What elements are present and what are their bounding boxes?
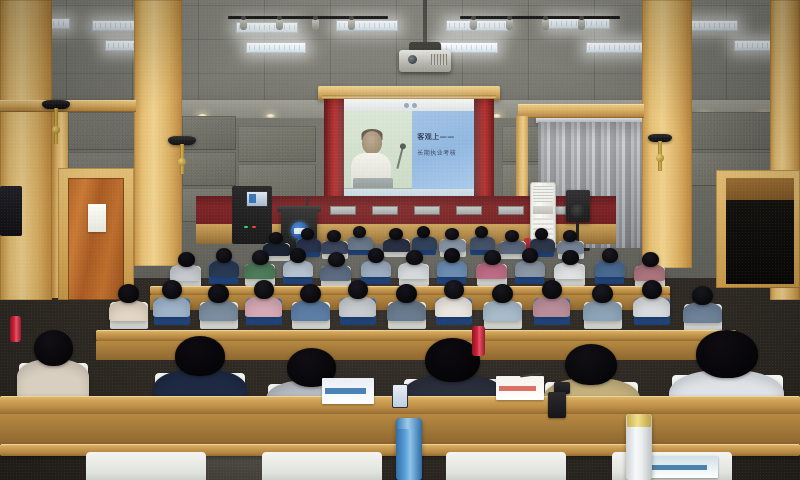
audience-member-head [301,228,314,240]
ceiling-panel-light [586,42,644,53]
booklet-blue [322,378,374,404]
thermos-cap [627,414,651,427]
audience-member-torso [339,296,376,317]
audience-member [326,252,346,279]
ceiling-projector-icon [399,50,451,72]
audience-member-torso [483,300,522,321]
thermos-cap [397,418,421,429]
projection-screen-assembly: 客观上—— 长期执业考核 [318,86,500,208]
audience-member-head [175,336,225,376]
sconce-knob [656,154,664,162]
lecture-hall-photo: 客观上—— 长期执业考核 [0,0,800,480]
audience-member [540,280,564,314]
microphone-icon [396,147,403,169]
stage-wall-plaque [498,206,524,215]
screen-valance-cornice [318,86,500,100]
audience-member-head [300,284,321,303]
audience-member [690,286,715,320]
audience-member [442,280,466,314]
audience-member-head [353,226,366,238]
smartphone-left[interactable] [392,384,408,408]
audience-member [352,226,368,248]
track-spotlight-icon [312,19,319,30]
audience-member-head [475,226,488,238]
audience-member [388,228,405,250]
audience-member [250,250,270,277]
audience-member-torso [683,302,722,323]
slide-text-pane: 客观上—— 长期执业考核 [412,111,474,200]
sconce-knob [178,158,186,166]
track-spotlight-icon [506,19,513,30]
light-track-rail [228,16,388,19]
audience-member [474,226,490,248]
audience-member [300,228,316,250]
audience-member-head [327,230,341,242]
av-monitor [246,191,268,207]
audience-member-torso [435,296,472,317]
audience-member-head [328,252,345,267]
audience-member-head [563,230,577,242]
audience-member-head [178,252,195,267]
audience-member-head [290,248,306,263]
pilaster-groove [146,16,170,260]
booklet-red [496,376,544,400]
slide-subtitle-text: 长期执业考核 [417,148,456,157]
audience-member [268,232,285,254]
stage-wall-plaque [372,206,398,215]
thermos-blue [396,418,422,480]
audience-member [600,248,619,275]
track-spotlight-icon [348,19,355,30]
calculator[interactable] [548,392,566,418]
sconce-knob [52,126,60,134]
ac-control-panel[interactable] [533,206,553,214]
pa-speaker [566,190,590,222]
track-spotlight-icon [240,19,247,30]
audience-member [160,280,184,314]
acoustic-panel [182,152,236,186]
status-led-red [252,226,256,228]
audience-member-head [269,232,283,244]
audience-member-torso [583,300,622,321]
projection-screen-surface: 客观上—— 长期执业考核 [344,99,474,200]
wood-cornice-right [518,104,644,118]
audience-member [562,230,579,252]
audience-member [520,248,539,275]
right-entrance-door[interactable] [726,200,794,284]
audience-member-head [565,344,617,385]
projector-vent [431,54,447,65]
track-spotlight-icon [276,19,283,30]
audience-member [206,284,231,318]
audience-member-head [484,250,501,265]
right-entrance-door-frame[interactable] [716,170,800,288]
audience-member [444,228,461,250]
stage-wall-plaque [456,206,482,215]
audience-member-head [254,280,274,299]
audience-member-torso [245,296,282,317]
audience-member-torso [387,300,426,321]
audience-member-head [162,280,182,299]
audience-member-head [444,248,460,263]
audience-member-head [696,330,758,378]
audience-member-head [368,248,384,263]
video-speaker-head [362,131,382,154]
thermos-red [472,326,485,356]
left-entrance-door-frame[interactable] [58,168,134,300]
audience-member-head [396,284,417,303]
audience-member-head [216,248,232,263]
audience-member [504,230,521,252]
ceiling-panel-light [246,42,306,53]
audience-member [490,284,515,318]
audience-member [346,280,370,314]
ceiling-panel-light [446,20,508,31]
audience-member [298,284,323,318]
slide-title-text: 客观上—— [417,132,455,142]
audience-member [640,252,660,279]
audience-member-head [602,248,618,263]
audience-member-torso [199,300,238,321]
projector-lens-icon [408,55,417,64]
audience-member [482,250,502,277]
booklet-teal [648,456,718,478]
audience-member [442,248,461,275]
audience-member-head [535,228,548,240]
audience-member [252,280,276,314]
audience-member [640,280,664,314]
audience-member-torso [412,236,437,250]
audience-member [534,228,550,250]
audience-member-torso [153,296,190,317]
booklet-cover-band [499,386,536,391]
audience-member-head [444,280,464,299]
stage-wall-plaque [330,206,356,215]
acoustic-panel [238,126,316,162]
audience-member [366,248,385,275]
booklet-cover-band [325,388,366,394]
seat-back[interactable] [262,452,382,480]
audience-member-head [692,286,713,305]
audience-member-head [562,250,579,265]
audience-member-head [208,284,229,303]
audience-member-head [417,226,430,238]
light-track-rail [460,16,620,19]
audience-member-head [118,284,139,303]
audience-member [326,230,343,252]
audience-member-head [406,250,423,265]
door-notice-paper [88,204,106,232]
audience-member-torso [470,236,495,250]
thermos-white [626,414,652,480]
track-spotlight-icon [578,19,585,30]
left-entrance-door[interactable] [68,178,124,300]
audience-member-head [642,252,659,267]
toolbar-dot-icon [404,103,409,108]
audience-member [404,250,424,277]
ceiling-panel-light [336,20,398,31]
audience-member-head [252,250,269,265]
audience-member-head [642,280,662,299]
audience-member-torso [291,300,330,321]
seat-back[interactable] [446,452,566,480]
audience-member-head [522,248,538,263]
wall-monitor [0,186,22,236]
booklet-cover-band [652,465,707,470]
audience-member-torso [533,296,570,317]
audience-member-head [492,284,513,303]
toolbar-dot-icon [412,103,417,108]
thermos-dark [10,316,21,342]
audience-member [560,250,580,277]
audience-member [288,248,307,275]
audience-member-head [592,284,613,303]
slide-video-pane [344,111,412,200]
track-spotlight-icon [470,19,477,30]
ac-air-grille [533,186,553,202]
audience-member [116,284,141,318]
slide-body: 客观上—— 长期执业考核 [344,111,474,200]
audience-member [590,284,615,318]
audience-member-head [445,228,459,240]
audience-member [30,330,76,394]
audience-member-torso [633,296,670,317]
stage-wall-plaque [414,206,440,215]
audience-member [394,284,419,318]
audience-member-head [542,280,562,299]
seat-back[interactable] [86,452,206,480]
audience-member-head [348,280,368,299]
door-transom-panel [726,178,794,200]
wood-pilaster-left-edge [0,0,52,300]
audience-member-head [505,230,519,242]
audience-member [176,252,196,279]
audience-member-head [389,228,403,240]
track-spotlight-icon [542,19,549,30]
audience-member [416,226,432,248]
stage-curtain-left [324,99,344,203]
audience-member-torso [109,300,148,321]
status-led-green [244,226,248,228]
stage-curtain-right [474,99,494,203]
audience-member [214,248,233,275]
audience-member-head [34,330,73,366]
